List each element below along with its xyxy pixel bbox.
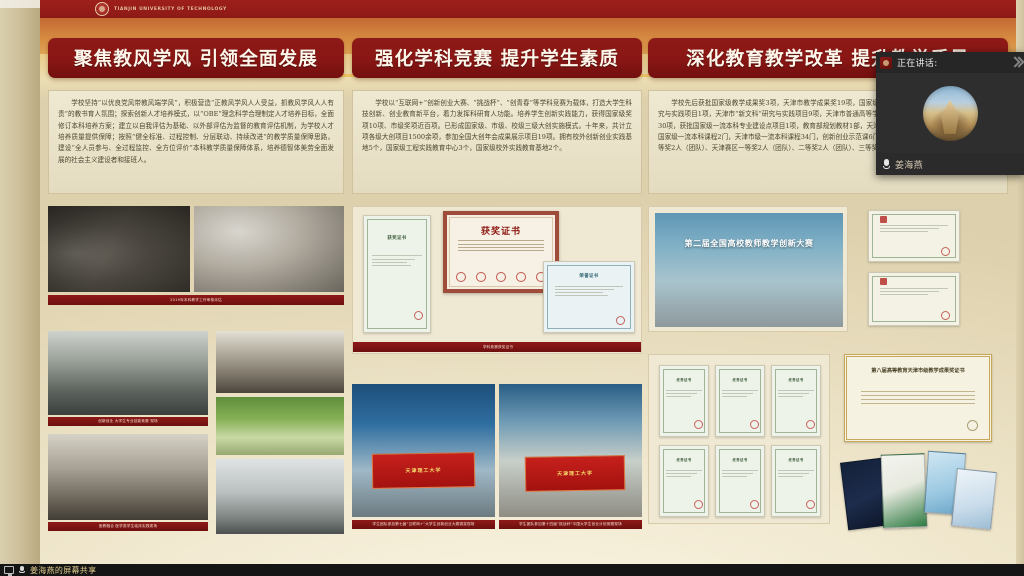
caption-certificates: 学科竞赛获奖证书 xyxy=(353,342,642,352)
video-thumbnail-panel[interactable]: 正在讲话: 姜海燕 xyxy=(876,52,1024,175)
certificate-block-competition: 获奖证书 获奖证书 荣誉证书 xyxy=(352,206,642,354)
seal-icon xyxy=(616,316,625,325)
certificate-honor-1 xyxy=(868,210,960,262)
certificate-award-framed: 获奖证书 xyxy=(443,211,559,293)
textbook-4 xyxy=(951,468,997,530)
poster-text-cards: 学校坚持“以优良党风带教风端学风”，积极营造“正教风学风人人受益，抓教风学风人人… xyxy=(40,90,1016,200)
poster-header-band: TIANJIN UNIVERSITY OF TECHNOLOGY xyxy=(40,0,1016,18)
photo-block-inspection: 2019年本科教学工作审核评估 xyxy=(48,206,344,310)
photo-block-stage: 第二届全国高校教师教学创新大赛 xyxy=(648,206,848,332)
section-title-1: 聚焦教风学风 引领全面发展 xyxy=(48,38,344,78)
photo-inspection-left xyxy=(48,206,190,292)
poster-board: TIANJIN UNIVERSITY OF TECHNOLOGY 聚焦教风学风 … xyxy=(40,0,1016,564)
national-emblem-icon xyxy=(880,278,887,285)
university-crest-icon xyxy=(95,2,109,16)
textbook-2 xyxy=(881,453,928,528)
photo-white-coats xyxy=(216,459,344,534)
text-card-1-body: 学校坚持“以优良党风带教风端学风”，积极营造“正教风学风人人受益，抓教风学风人人… xyxy=(58,98,334,166)
screen-share-view: TIANJIN UNIVERSITY OF TECHNOLOGY 聚焦教风学风 … xyxy=(0,0,1024,576)
certificate-grid-block: 优秀证书 优秀证书 优秀证书 优秀证书 优秀证书 优秀证书 xyxy=(648,354,830,524)
poster-image-montage: 2019年本科教学工作审核评估 创新创业 大学生专业技能竞赛 现场 医教融合 医… xyxy=(40,206,1016,546)
certificate-teaching-achievement-title: 第八届高等教育天津市级教学成果奖证书 xyxy=(847,368,989,376)
participant-name: 姜海燕 xyxy=(895,158,923,171)
stage-banner-title: 第二届全国高校教师教学创新大赛 xyxy=(666,238,831,249)
room-left-edge xyxy=(0,0,40,564)
window-top-notch xyxy=(0,0,40,8)
video-panel-body[interactable] xyxy=(876,73,1024,153)
team-flag-1: 天津理工大学 xyxy=(372,452,476,488)
text-card-1: 学校坚持“以优良党风带教风端学风”，积极营造“正教风学风人人受益，抓教风学风人人… xyxy=(48,90,344,194)
certificate-green-1: 获奖证书 xyxy=(363,215,431,333)
caption-teaching-inspection: 2019年本科教学工作审核评估 xyxy=(48,295,344,305)
caption-internet-plus: 学生团队参加第七届“互联网+”大学生创新创业大赛铜奖现场 xyxy=(352,520,495,529)
photo-internet-plus-team: 天津理工大学 xyxy=(352,384,495,517)
participant-avatar xyxy=(923,86,978,141)
screen-share-bar: 姜海燕的屏幕共享 xyxy=(0,564,1024,576)
photo-block-competitions: 天津理工大学 天津理工大学 学生团队参加第七届“互联网+”大学生创新创业大赛铜奖… xyxy=(352,384,642,534)
seal-icon xyxy=(967,420,978,431)
textbook-collection xyxy=(844,452,996,532)
microphone-icon[interactable] xyxy=(882,159,890,170)
speaking-status-label: 正在讲话: xyxy=(897,56,938,69)
university-logo-en: TIANJIN UNIVERSITY OF TECHNOLOGY xyxy=(114,7,227,12)
certificate-grid-2: 优秀证书 xyxy=(715,365,765,437)
certificate-grid-4: 优秀证书 xyxy=(659,445,709,517)
university-logo: TIANJIN UNIVERSITY OF TECHNOLOGY xyxy=(95,2,227,16)
national-emblem-icon xyxy=(880,216,887,223)
photo-innovation-contest-stage: 第二届全国高校教师教学创新大赛 xyxy=(655,213,843,327)
video-panel-controls[interactable] xyxy=(1012,56,1021,67)
photo-block-computer-lab: 创新创业 大学生专业技能竞赛 现场 xyxy=(48,331,208,429)
poster-section-titles: 聚焦教风学风 引领全面发展 强化学科竞赛 提升学生素质 深化教育教学改革 提升教… xyxy=(40,38,1016,78)
monitor-icon xyxy=(4,566,14,574)
seal-icon xyxy=(941,247,950,256)
certificate-award-title: 获奖证书 xyxy=(447,224,555,237)
text-card-2: 学校以“互联网+”创新创业大赛、“挑战杯”、“创青春”等学科竞赛为载体，打造大学… xyxy=(352,90,642,194)
double-chevron-collapse-icon[interactable] xyxy=(1012,56,1021,67)
photo-challenge-cup-team: 天津理工大学 xyxy=(499,384,642,517)
video-panel-footer: 姜海燕 xyxy=(876,153,1024,175)
certificate-grid-3: 优秀证书 xyxy=(771,365,821,437)
video-panel-header[interactable]: 正在讲话: xyxy=(876,52,1024,73)
caption-computer-lab: 创新创业 大学生专业技能竞赛 现场 xyxy=(48,417,208,426)
certificate-teaching-achievement: 第八届高等教育天津市级教学成果奖证书 xyxy=(844,354,992,442)
certificate-grid-1: 优秀证书 xyxy=(659,365,709,437)
certificate-honor-2 xyxy=(868,272,960,326)
certificate-grid-6: 优秀证书 xyxy=(771,445,821,517)
text-card-2-body: 学校以“互联网+”创新创业大赛、“挑战杯”、“创青春”等学科竞赛为载体，打造大学… xyxy=(362,98,632,155)
caption-challenge-cup: 学生团队参加第十四届“挑战杯”中国大学生创业计划竞赛现场 xyxy=(499,520,642,529)
screen-share-label: 姜海燕的屏幕共享 xyxy=(30,565,96,576)
caption-medical-practice: 医教融合 医学类学生临床实践现场 xyxy=(48,522,208,531)
certificate-green-1-title: 获奖证书 xyxy=(364,235,430,241)
microphone-icon[interactable] xyxy=(19,566,25,575)
shared-screen-content: TIANJIN UNIVERSITY OF TECHNOLOGY 聚焦教风学风 … xyxy=(0,0,1024,564)
seal-icon xyxy=(941,311,950,320)
photo-block-medical: 医教融合 医学类学生临床实践现场 xyxy=(48,434,208,534)
section-title-2: 强化学科竞赛 提升学生素质 xyxy=(352,38,642,78)
photo-inspection-right xyxy=(194,206,344,292)
meeting-app-icon xyxy=(880,57,892,69)
certificate-blue-1: 荣誉证书 xyxy=(543,261,635,333)
photo-lobby xyxy=(48,434,208,520)
photo-garden xyxy=(216,397,344,455)
team-flag-2: 天津理工大学 xyxy=(524,455,625,491)
certificate-blue-1-title: 荣誉证书 xyxy=(544,273,634,279)
photo-conference-room xyxy=(216,331,344,393)
certificate-grid-5: 优秀证书 xyxy=(715,445,765,517)
photo-computer-lab xyxy=(48,331,208,415)
